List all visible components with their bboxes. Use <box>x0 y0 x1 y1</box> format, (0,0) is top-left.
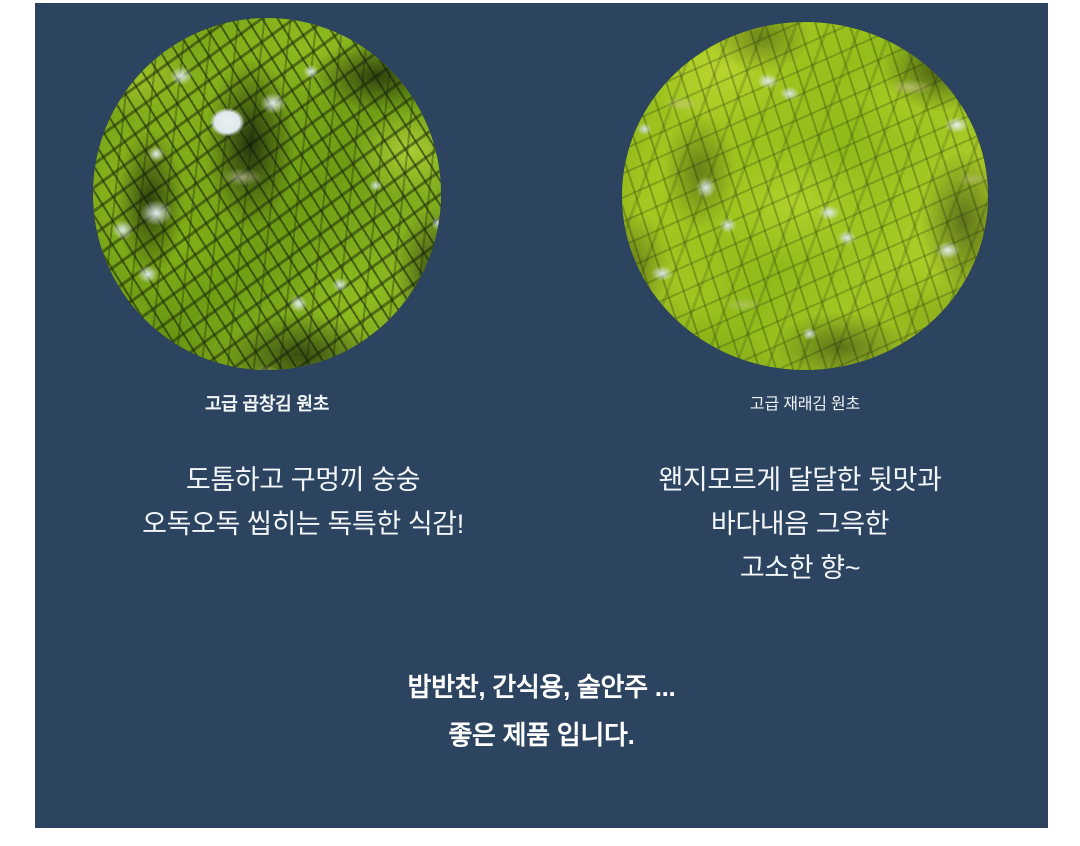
photo-vignette <box>93 18 441 370</box>
description-line: 오독오독 씹히는 독특한 식감! <box>63 502 543 546</box>
product-caption-jaerae-gim: 고급 재래김 원초 <box>555 390 1048 414</box>
product-caption-gopchang-gim: 고급 곱창김 원초 <box>35 390 499 416</box>
page-stage: 고급 곱창김 원초 고급 재래김 원초 도톰하고 구멍끼 숭숭 오독오독 씹 <box>0 0 1080 846</box>
closing-statement: 밥반찬, 간식용, 술안주 ... 좋은 제품 입니다. <box>35 663 1048 759</box>
product-detail-panel: 고급 곱창김 원초 고급 재래김 원초 도톰하고 구멍끼 숭숭 오독오독 씹 <box>35 3 1048 828</box>
product-column-jaerae-gim: 고급 재래김 원초 <box>555 3 1048 414</box>
description-line: 고소한 향~ <box>560 546 1040 590</box>
description-line: 도톰하고 구멍끼 숭숭 <box>63 458 543 502</box>
jaerae-gim-raw-seaweed-photo <box>622 22 988 370</box>
gopchang-gim-raw-seaweed-photo <box>93 18 441 370</box>
closing-line: 좋은 제품 입니다. <box>35 711 1048 759</box>
product-description-gopchang-gim: 도톰하고 구멍끼 숭숭 오독오독 씹히는 독특한 식감! <box>63 458 543 546</box>
description-line: 왠지모르게 달달한 뒷맛과 <box>560 458 1040 502</box>
description-line: 바다내음 그윽한 <box>560 502 1040 546</box>
product-description-jaerae-gim: 왠지모르게 달달한 뒷맛과 바다내음 그윽한 고소한 향~ <box>560 458 1040 590</box>
product-column-gopchang-gim: 고급 곱창김 원초 <box>35 3 555 416</box>
photo-vignette <box>622 22 988 370</box>
product-description-row: 도톰하고 구멍끼 숭숭 오독오독 씹히는 독특한 식감! 왠지모르게 달달한 뒷… <box>35 458 1048 628</box>
product-comparison-row: 고급 곱창김 원초 고급 재래김 원초 <box>35 3 1048 433</box>
closing-line: 밥반찬, 간식용, 술안주 ... <box>35 663 1048 711</box>
